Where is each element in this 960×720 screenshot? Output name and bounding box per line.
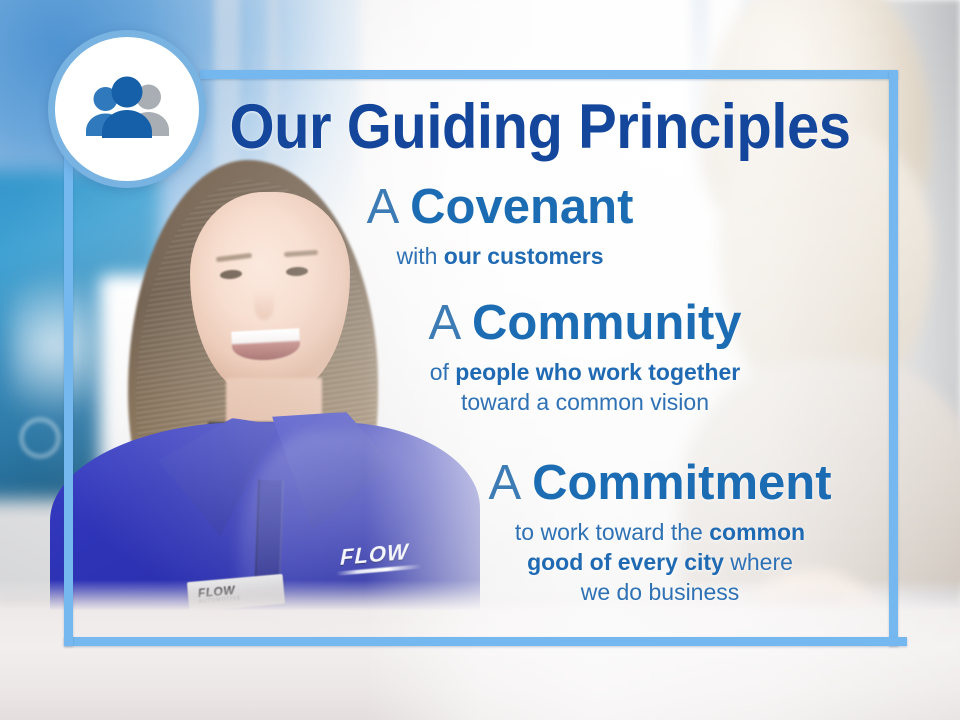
- subtext-run-bold: our customers: [444, 243, 604, 269]
- principle-subtext-line: we do business: [430, 578, 890, 608]
- principle-subtext-line: with our customers: [300, 242, 700, 271]
- principle-subtext: of people who work together toward a com…: [355, 358, 815, 418]
- principle-heading: A Community: [355, 298, 815, 349]
- principle-keyword: Covenant: [410, 180, 633, 234]
- subtext-run: we do business: [581, 579, 740, 605]
- principle-heading: A Commitment: [430, 458, 890, 509]
- subtext-run-bold: common: [709, 519, 805, 545]
- subtext-run-bold: people who work together: [455, 359, 740, 385]
- principle-commitment: A Commitment to work toward the common g…: [430, 458, 890, 608]
- subtext-run: where: [724, 549, 793, 575]
- principle-heading: A Covenant: [300, 182, 700, 233]
- subtext-run: to work toward the: [515, 519, 709, 545]
- principle-article: A: [488, 456, 532, 510]
- principle-subtext: to work toward the common good of every …: [430, 518, 890, 608]
- page-title: Our Guiding Principles: [227, 96, 853, 159]
- principle-subtext: with our customers: [300, 242, 700, 271]
- guiding-principles-poster: FLOW AUTOMOTIVE FLOW: [0, 0, 960, 720]
- principle-subtext-line: to work toward the common: [430, 518, 890, 548]
- subtext-run-bold: good of every city: [527, 549, 724, 575]
- principle-subtext-line: toward a common vision: [355, 388, 815, 418]
- subtext-run: toward a common vision: [461, 389, 709, 415]
- subtext-run: with: [396, 243, 443, 269]
- principle-article: A: [367, 180, 411, 234]
- principle-article: A: [428, 296, 472, 350]
- text-layer: Our Guiding Principles A Covenant with o…: [0, 0, 960, 720]
- principle-subtext-line: good of every city where: [430, 548, 890, 578]
- principle-keyword: Community: [472, 296, 742, 350]
- principle-community: A Community of people who work together …: [355, 298, 815, 418]
- principle-covenant: A Covenant with our customers: [300, 182, 700, 271]
- principle-subtext-line: of people who work together: [355, 358, 815, 388]
- principle-keyword: Commitment: [532, 456, 831, 510]
- subtext-run: of: [430, 359, 456, 385]
